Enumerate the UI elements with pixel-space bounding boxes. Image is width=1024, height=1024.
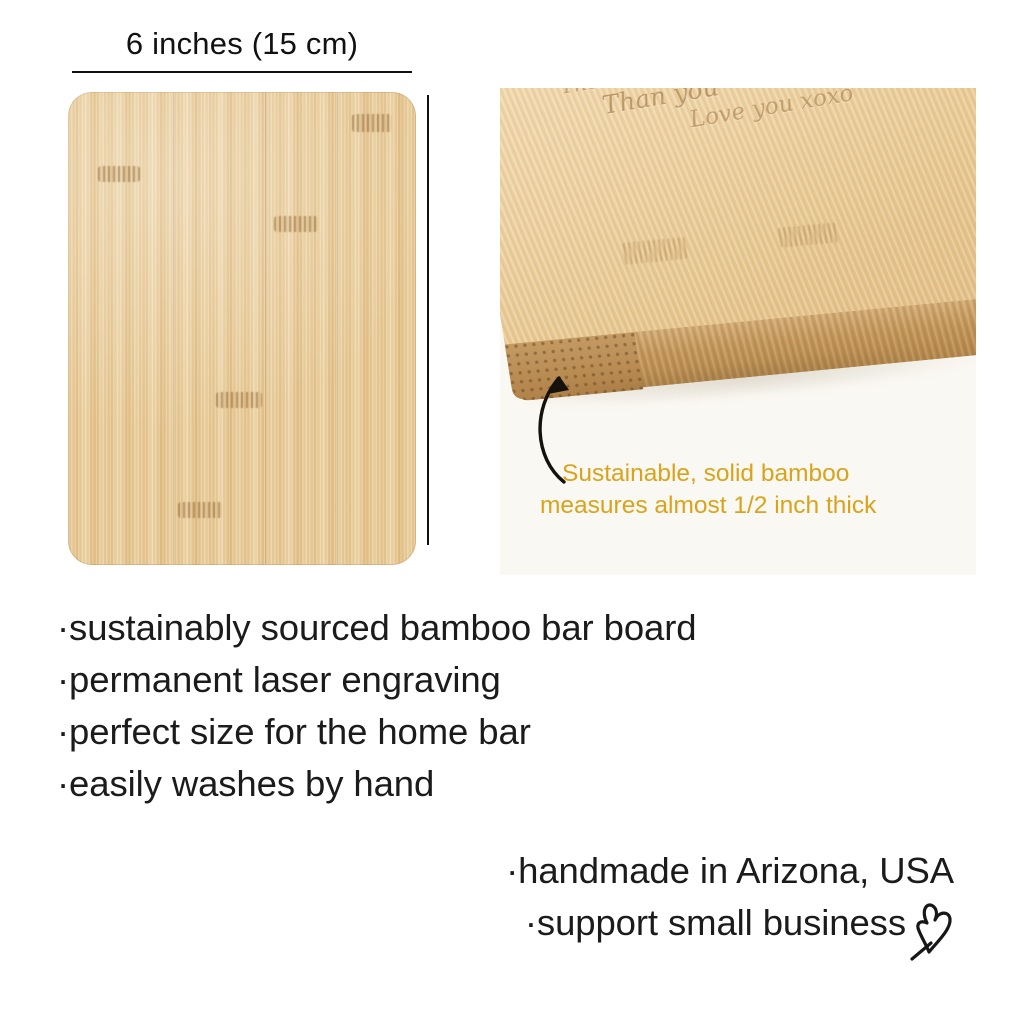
thickness-callout: Sustainable, solid bamboo measures almos… (540, 458, 970, 522)
feature-item: ·easily washes by hand (57, 758, 917, 810)
infographic-canvas: 6 inches (15 cm) 8 inches (20 cm) Thanks… (0, 0, 1024, 1024)
feature-item: ·perfect size for the home bar (57, 706, 917, 758)
board-sheen (68, 92, 416, 565)
bamboo-node-mark (178, 502, 222, 518)
board-grain-seam (336, 92, 339, 565)
bamboo-board-flat-view (68, 92, 416, 565)
board-grain-seam (172, 92, 175, 565)
hand-drawn-heart-icon (908, 899, 954, 961)
width-dimension-line (72, 71, 412, 73)
bamboo-node-mark (274, 216, 318, 232)
closing-item-row: ·support small business (525, 897, 954, 949)
feature-item: ·permanent laser engraving (57, 654, 917, 706)
bamboo-node-mark (352, 114, 392, 132)
height-dimension-label: 8 inches (20 cm) (427, 95, 487, 545)
callout-line-1: Sustainable, solid bamboo (540, 458, 970, 490)
closing-item: ·support small business (525, 897, 906, 949)
closing-item: ·handmade in Arizona, USA (314, 845, 954, 897)
bamboo-node-mark (216, 392, 262, 408)
closing-list: ·handmade in Arizona, USA ·support small… (314, 845, 954, 949)
bamboo-node-mark (98, 166, 140, 182)
callout-line-2: measures almost 1/2 inch thick (540, 490, 970, 522)
feature-list: ·sustainably sourced bamboo bar board ·p… (57, 602, 917, 810)
board-grain-seam (264, 92, 267, 565)
feature-item: ·sustainably sourced bamboo bar board (57, 602, 917, 654)
width-dimension-label: 6 inches (15 cm) (72, 26, 412, 62)
